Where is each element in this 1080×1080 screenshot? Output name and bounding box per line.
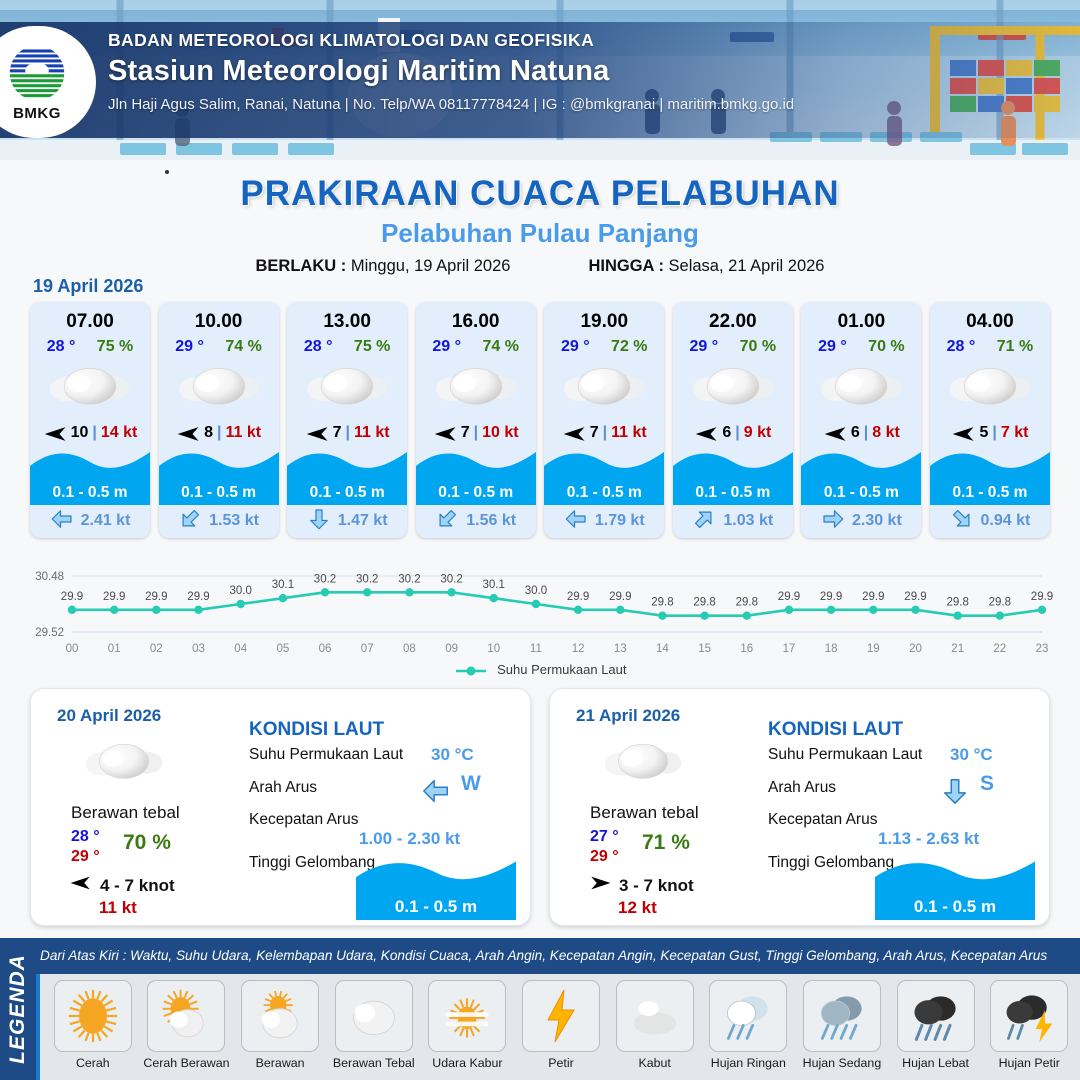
card-time: 01.00	[801, 302, 921, 333]
daily-wind-row: 4 - 7 knot	[69, 875, 175, 896]
card-wind-row: 6 | 9 kt	[673, 418, 793, 448]
card-wave-block: 0.1 - 0.5 m	[801, 448, 921, 504]
daily-gust: 12 kt	[618, 898, 657, 918]
cloud-sun-icon	[241, 980, 319, 1052]
wind-direction-icon	[43, 425, 67, 441]
wind-direction-icon	[823, 425, 847, 441]
card-current-row: 2.41 kt	[30, 504, 150, 538]
card-temperature: 28 °	[304, 338, 333, 356]
card-metrics: 29 ° 70 %	[673, 333, 793, 356]
card-weather-icon	[673, 356, 793, 418]
wind-direction-icon	[951, 425, 975, 441]
wave-height: 0.1 - 0.5 m	[824, 484, 899, 502]
daily-humidity: 71 %	[642, 831, 690, 855]
daily-date: 20 April 2026	[57, 706, 161, 726]
card-weather-icon	[930, 356, 1050, 418]
daily-temp-min: 27 °	[590, 828, 619, 846]
svg-text:14: 14	[656, 643, 669, 655]
legenda-icon-row: Cerah Cerah Berawan Berawan Berawan Teba…	[36, 974, 1080, 1080]
wind-separator: |	[474, 424, 478, 442]
hourly-card[interactable]: 16.00 29 ° 74 % 7 | 10 kt	[416, 302, 536, 538]
card-metrics: 28 ° 75 %	[30, 333, 150, 356]
svg-text:29.9: 29.9	[778, 591, 800, 603]
daily-condition: Berawan tebal	[71, 803, 180, 823]
current-speed: 0.94 kt	[981, 512, 1031, 530]
wind-speed: 8	[204, 424, 213, 442]
svg-text:29.9: 29.9	[145, 591, 167, 603]
current-direction-icon	[435, 507, 459, 536]
sst-label: Suhu Permukaan Laut	[249, 746, 403, 764]
wind-separator: |	[346, 424, 350, 442]
svg-text:02: 02	[150, 643, 163, 655]
wind-gust: 7 kt	[1001, 424, 1029, 442]
wind-gust: 9 kt	[744, 424, 772, 442]
svg-text:29.9: 29.9	[609, 591, 631, 603]
legenda-item-label: Berawan Tebal	[333, 1056, 415, 1070]
daily-humidity: 70 %	[123, 831, 171, 855]
svg-text:20: 20	[909, 643, 922, 655]
wind-direction-icon	[305, 425, 329, 441]
sun-cloud-icon	[147, 980, 225, 1052]
card-wave-block: 0.1 - 0.5 m	[416, 448, 536, 504]
daily-date: 21 April 2026	[576, 706, 680, 726]
card-current-row: 1.56 kt	[416, 504, 536, 538]
arah-arus-value: S	[980, 772, 994, 796]
wind-speed: 6	[722, 424, 731, 442]
daily-gust: 11 kt	[99, 898, 137, 918]
wind-separator: |	[992, 424, 996, 442]
svg-text:00: 00	[66, 643, 79, 655]
card-metrics: 29 ° 74 %	[159, 333, 279, 356]
svg-text:23: 23	[1036, 643, 1049, 655]
svg-text:29.8: 29.8	[989, 597, 1011, 609]
svg-text:15: 15	[698, 643, 711, 655]
page-title: PRAKIRAAN CUACA PELABUHAN	[0, 174, 1080, 214]
thunderstorm-icon	[990, 980, 1068, 1052]
svg-text:29.9: 29.9	[103, 591, 125, 603]
card-wind-row: 6 | 8 kt	[801, 418, 921, 448]
card-wind-row: 7 | 10 kt	[416, 418, 536, 448]
card-current-row: 1.53 kt	[159, 504, 279, 538]
kecepatan-arus-label: Kecepatan Arus	[249, 811, 358, 829]
svg-text:29.9: 29.9	[904, 591, 926, 603]
legenda-side-text: LEGENDA	[6, 954, 30, 1064]
current-direction-icon	[692, 507, 716, 536]
card-weather-icon	[544, 356, 664, 418]
svg-text:01: 01	[108, 643, 121, 655]
wind-separator: |	[217, 424, 221, 442]
daily-wind-range: 3 - 7 knot	[619, 876, 694, 896]
card-temperature: 28 °	[47, 338, 76, 356]
card-time: 22.00	[673, 302, 793, 333]
legenda-item-label: Hujan Petir	[999, 1056, 1060, 1070]
card-humidity: 70 %	[868, 338, 904, 356]
wave-band: 0.1 - 0.5 m	[930, 481, 1050, 505]
hourly-card[interactable]: 22.00 29 ° 70 % 6 | 9 kt	[673, 302, 793, 538]
card-wave-block: 0.1 - 0.5 m	[159, 448, 279, 504]
current-direction-icon	[178, 507, 202, 536]
title-block: PRAKIRAAN CUACA PELABUHAN Pelabuhan Pula…	[0, 160, 1080, 276]
svg-text:09: 09	[445, 643, 458, 655]
card-temperature: 29 °	[175, 338, 204, 356]
kondisi-laut-title: KONDISI LAUT	[249, 719, 384, 741]
current-speed: 1.53 kt	[209, 512, 259, 530]
light-rain-icon	[709, 980, 787, 1052]
card-current-row: 2.30 kt	[801, 504, 921, 538]
kecepatan-arus-value: 1.13 - 2.63 kt	[878, 829, 979, 849]
card-current-row: 1.47 kt	[287, 504, 407, 538]
daily-temp-max: 29 °	[71, 848, 100, 866]
svg-text:29.52: 29.52	[35, 627, 64, 639]
legenda-item-label: Cerah Berawan	[143, 1056, 229, 1070]
legenda-item-label: Petir	[548, 1056, 573, 1070]
legenda-side-label: LEGENDA	[0, 938, 36, 1080]
wave-band: 0.1 - 0.5 m	[801, 481, 921, 505]
wave-band: 0.1 - 0.5 m	[416, 481, 536, 505]
svg-text:16: 16	[740, 643, 753, 655]
hourly-date-label: 19 April 2026	[33, 276, 143, 297]
wind-separator: |	[735, 424, 739, 442]
wind-direction-icon	[694, 425, 718, 441]
svg-text:17: 17	[783, 643, 796, 655]
current-speed: 2.41 kt	[81, 512, 131, 530]
svg-text:29.9: 29.9	[61, 591, 83, 603]
daily-weather-icon	[602, 737, 684, 792]
legenda-item: Cerah	[46, 980, 140, 1070]
cloud-icon	[335, 980, 413, 1052]
card-wind-row: 8 | 11 kt	[159, 418, 279, 448]
svg-text:29.9: 29.9	[567, 591, 589, 603]
wave-band: 0.1 - 0.5 m	[159, 481, 279, 505]
wave-height: 0.1 - 0.5 m	[695, 484, 770, 502]
svg-text:29.8: 29.8	[651, 597, 673, 609]
daily-wave-block: 0.1 - 0.5 m	[875, 857, 1035, 919]
daily-wind-direction-icon	[69, 875, 93, 896]
legend-line-icon	[454, 665, 488, 677]
legenda-item: Berawan Tebal	[327, 980, 421, 1070]
card-metrics: 28 ° 75 %	[287, 333, 407, 356]
svg-text:05: 05	[277, 643, 290, 655]
card-humidity: 74 %	[482, 338, 518, 356]
hourly-card[interactable]: 19.00 29 ° 72 % 7 | 11 kt	[544, 302, 664, 538]
current-direction-icon	[821, 507, 845, 536]
card-metrics: 28 ° 71 %	[930, 333, 1050, 356]
wind-speed: 5	[979, 424, 988, 442]
wave-height: 0.1 - 0.5 m	[567, 484, 642, 502]
sst-value: 30 °C	[950, 745, 993, 765]
wave-band: 0.1 - 0.5 m	[673, 481, 793, 505]
wind-gust: 11 kt	[611, 424, 647, 442]
current-direction-icon	[50, 507, 74, 536]
svg-text:30.0: 30.0	[525, 585, 547, 597]
svg-text:30.2: 30.2	[314, 573, 336, 585]
station-name: Stasiun Meteorologi Maritim Natuna	[108, 55, 794, 88]
legenda-item: Berawan	[233, 980, 327, 1070]
wind-speed: 10	[71, 424, 89, 442]
daily-wave-height: 0.1 - 0.5 m	[914, 897, 996, 917]
card-weather-icon	[30, 356, 150, 418]
page-subtitle: Pelabuhan Pulau Panjang	[0, 218, 1080, 249]
legenda-item-label: Hujan Lebat	[902, 1056, 969, 1070]
wind-speed: 6	[851, 424, 860, 442]
legenda-item-label: Udara Kabur	[432, 1056, 502, 1070]
wave-band: 0.1 - 0.5 m	[30, 481, 150, 505]
svg-text:19: 19	[867, 643, 880, 655]
wind-separator: |	[864, 424, 868, 442]
daily-wave-height: 0.1 - 0.5 m	[395, 897, 477, 917]
wind-direction-icon	[433, 425, 457, 441]
card-current-row: 0.94 kt	[930, 504, 1050, 538]
current-speed: 1.79 kt	[595, 512, 645, 530]
svg-text:29.8: 29.8	[736, 597, 758, 609]
daily-wave-band: 0.1 - 0.5 m	[875, 894, 1035, 920]
legenda-item: Hujan Lebat	[889, 980, 983, 1070]
svg-text:10: 10	[487, 643, 500, 655]
daily-weather-icon	[83, 737, 165, 792]
hourly-card[interactable]: 13.00 28 ° 75 % 7 | 11 kt	[287, 302, 407, 538]
daily-condition: Berawan tebal	[590, 803, 699, 823]
wind-gust: 11 kt	[225, 424, 261, 442]
svg-text:30.2: 30.2	[440, 573, 462, 585]
card-time: 13.00	[287, 302, 407, 333]
card-humidity: 70 %	[740, 338, 776, 356]
legenda-item: Petir	[514, 980, 608, 1070]
card-wind-row: 7 | 11 kt	[544, 418, 664, 448]
card-time: 10.00	[159, 302, 279, 333]
card-temperature: 29 °	[818, 338, 847, 356]
legenda-note: Dari Atas Kiri : Waktu, Suhu Udara, Kele…	[40, 948, 1047, 963]
wind-gust: 14 kt	[101, 424, 137, 442]
wave-band: 0.1 - 0.5 m	[287, 481, 407, 505]
kondisi-laut-title: KONDISI LAUT	[768, 719, 903, 741]
svg-text:29.8: 29.8	[693, 597, 715, 609]
card-metrics: 29 ° 72 %	[544, 333, 664, 356]
wind-separator: |	[603, 424, 607, 442]
daily-forecast-panel[interactable]: 20 April 2026 Berawan tebal 28 ° 29 ° 70…	[30, 688, 531, 926]
legenda-item-label: Hujan Ringan	[711, 1056, 786, 1070]
arah-arus-label: Arah Arus	[249, 779, 317, 797]
wind-direction-icon	[562, 425, 586, 441]
arah-arus-icon	[421, 776, 451, 811]
daily-panel-list: 20 April 2026 Berawan tebal 28 ° 29 ° 70…	[30, 688, 1050, 926]
berlaku-group: BERLAKU : Minggu, 19 April 2026	[256, 257, 511, 276]
card-wave-block: 0.1 - 0.5 m	[930, 448, 1050, 504]
wind-gust: 8 kt	[872, 424, 900, 442]
lightning-icon	[522, 980, 600, 1052]
current-direction-icon	[307, 507, 331, 536]
wave-height: 0.1 - 0.5 m	[181, 484, 256, 502]
card-weather-icon	[287, 356, 407, 418]
page-header: BMKG BADAN METEOROLOGI KLIMATOLOGI DAN G…	[0, 0, 1080, 160]
svg-text:11: 11	[530, 643, 542, 655]
sst-label: Suhu Permukaan Laut	[768, 746, 922, 764]
card-metrics: 29 ° 70 %	[801, 333, 921, 356]
legenda-item-label: Cerah	[76, 1056, 110, 1070]
svg-text:29.9: 29.9	[820, 591, 842, 603]
stray-dot	[165, 170, 169, 174]
card-humidity: 75 %	[354, 338, 390, 356]
svg-text:30.2: 30.2	[356, 573, 378, 585]
card-wave-block: 0.1 - 0.5 m	[673, 448, 793, 504]
hourly-card[interactable]: 07.00 28 ° 75 % 10 | 14 kt	[30, 302, 150, 538]
current-direction-icon	[950, 507, 974, 536]
arah-arus-icon	[940, 776, 970, 811]
legenda-item: Hujan Ringan	[701, 980, 795, 1070]
card-current-row: 1.03 kt	[673, 504, 793, 538]
daily-temp-max: 29 °	[590, 848, 619, 866]
legenda-item: Kabut	[608, 980, 702, 1070]
contact-info: Jln Haji Agus Salim, Ranai, Natuna | No.…	[108, 96, 794, 113]
wind-speed: 7	[333, 424, 342, 442]
arah-arus-value: W	[461, 772, 481, 796]
card-humidity: 75 %	[97, 338, 133, 356]
svg-text:21: 21	[951, 643, 964, 655]
bmkg-logo-text: BMKG	[13, 105, 61, 122]
validity-row: BERLAKU : Minggu, 19 April 2026 HINGGA :…	[0, 257, 1080, 276]
daily-wave-block: 0.1 - 0.5 m	[356, 857, 516, 919]
berlaku-label: BERLAKU :	[256, 257, 347, 275]
fog-icon	[616, 980, 694, 1052]
svg-text:18: 18	[825, 643, 838, 655]
svg-text:29.9: 29.9	[1031, 591, 1053, 603]
svg-text:30.48: 30.48	[35, 571, 64, 583]
chart-legend: Suhu Permukaan Laut	[0, 662, 1080, 677]
wind-direction-icon	[176, 425, 200, 441]
sun-icon	[54, 980, 132, 1052]
card-weather-icon	[159, 356, 279, 418]
card-wave-block: 0.1 - 0.5 m	[287, 448, 407, 504]
legenda-item-label: Hujan Sedang	[803, 1056, 882, 1070]
legenda-item-label: Berawan	[256, 1056, 305, 1070]
haze-icon	[428, 980, 506, 1052]
wave-height: 0.1 - 0.5 m	[53, 484, 128, 502]
card-time: 07.00	[30, 302, 150, 333]
svg-text:04: 04	[234, 643, 247, 655]
svg-text:30.1: 30.1	[483, 579, 505, 591]
card-temperature: 29 °	[561, 338, 590, 356]
bmkg-logo-icon	[6, 42, 68, 104]
legenda-item: Hujan Sedang	[795, 980, 889, 1070]
sst-value: 30 °C	[431, 745, 474, 765]
svg-text:29.9: 29.9	[862, 591, 884, 603]
wave-height: 0.1 - 0.5 m	[438, 484, 513, 502]
svg-text:30.0: 30.0	[230, 585, 252, 597]
heavy-rain-icon	[897, 980, 975, 1052]
wave-height: 0.1 - 0.5 m	[952, 484, 1027, 502]
chart-legend-label: Suhu Permukaan Laut	[497, 662, 626, 677]
daily-wind-range: 4 - 7 knot	[100, 876, 175, 896]
daily-wave-band: 0.1 - 0.5 m	[356, 894, 516, 920]
kecepatan-arus-label: Kecepatan Arus	[768, 811, 877, 829]
card-weather-icon	[416, 356, 536, 418]
current-speed: 1.47 kt	[338, 512, 388, 530]
svg-text:13: 13	[614, 643, 627, 655]
svg-text:07: 07	[361, 643, 374, 655]
svg-text:22: 22	[993, 643, 1006, 655]
daily-wind-direction-icon	[588, 875, 612, 896]
svg-text:03: 03	[192, 643, 205, 655]
header-text-block: BADAN METEOROLOGI KLIMATOLOGI DAN GEOFIS…	[108, 30, 794, 113]
current-direction-icon	[564, 507, 588, 536]
berlaku-value: Minggu, 19 April 2026	[351, 257, 511, 275]
wave-band: 0.1 - 0.5 m	[544, 481, 664, 505]
card-temperature: 28 °	[947, 338, 976, 356]
hourly-card[interactable]: 01.00 29 ° 70 % 6 | 8 kt	[801, 302, 921, 538]
wind-gust: 10 kt	[482, 424, 518, 442]
current-speed: 1.03 kt	[723, 512, 773, 530]
card-wind-row: 5 | 7 kt	[930, 418, 1050, 448]
card-humidity: 74 %	[225, 338, 261, 356]
card-humidity: 72 %	[611, 338, 647, 356]
legenda-item: Hujan Petir	[982, 980, 1076, 1070]
card-wind-row: 7 | 11 kt	[287, 418, 407, 448]
current-speed: 2.30 kt	[852, 512, 902, 530]
kecepatan-arus-value: 1.00 - 2.30 kt	[359, 829, 460, 849]
svg-text:29.8: 29.8	[947, 597, 969, 609]
card-temperature: 29 °	[432, 338, 461, 356]
daily-temp-min: 28 °	[71, 828, 100, 846]
card-current-row: 1.79 kt	[544, 504, 664, 538]
svg-text:30.1: 30.1	[272, 579, 294, 591]
wind-speed: 7	[461, 424, 470, 442]
hourly-card[interactable]: 10.00 29 ° 74 % 8 | 11 kt	[159, 302, 279, 538]
card-humidity: 71 %	[997, 338, 1033, 356]
hingga-value: Selasa, 21 April 2026	[669, 257, 825, 275]
hingga-label: HINGGA :	[588, 257, 663, 275]
svg-text:12: 12	[572, 643, 585, 655]
legenda-item: Cerah Berawan	[140, 980, 234, 1070]
card-wave-block: 0.1 - 0.5 m	[544, 448, 664, 504]
wind-speed: 7	[590, 424, 599, 442]
hingga-group: HINGGA : Selasa, 21 April 2026	[588, 257, 824, 276]
agency-name: BADAN METEOROLOGI KLIMATOLOGI DAN GEOFIS…	[108, 30, 794, 51]
legenda-section: LEGENDA Dari Atas Kiri : Waktu, Suhu Uda…	[0, 938, 1080, 1080]
card-time: 19.00	[544, 302, 664, 333]
svg-text:30.2: 30.2	[398, 573, 420, 585]
card-metrics: 29 ° 74 %	[416, 333, 536, 356]
svg-text:08: 08	[403, 643, 416, 655]
moderate-rain-icon	[803, 980, 881, 1052]
wind-separator: |	[92, 424, 96, 442]
card-temperature: 29 °	[690, 338, 719, 356]
card-time: 16.00	[416, 302, 536, 333]
daily-wind-row: 3 - 7 knot	[588, 875, 694, 896]
card-weather-icon	[801, 356, 921, 418]
daily-forecast-panel[interactable]: 21 April 2026 Berawan tebal 27 ° 29 ° 71…	[549, 688, 1050, 926]
svg-text:29.9: 29.9	[187, 591, 209, 603]
svg-text:06: 06	[319, 643, 332, 655]
legenda-item: Udara Kabur	[421, 980, 515, 1070]
arah-arus-label: Arah Arus	[768, 779, 836, 797]
wind-gust: 11 kt	[354, 424, 390, 442]
hourly-card-list: 07.00 28 ° 75 % 10 | 14 kt	[30, 302, 1050, 538]
card-wave-block: 0.1 - 0.5 m	[30, 448, 150, 504]
card-wind-row: 10 | 14 kt	[30, 418, 150, 448]
hourly-card[interactable]: 04.00 28 ° 71 % 5 | 7 kt	[930, 302, 1050, 538]
legenda-item-label: Kabut	[638, 1056, 670, 1070]
wave-height: 0.1 - 0.5 m	[310, 484, 385, 502]
card-time: 04.00	[930, 302, 1050, 333]
current-speed: 1.56 kt	[466, 512, 516, 530]
